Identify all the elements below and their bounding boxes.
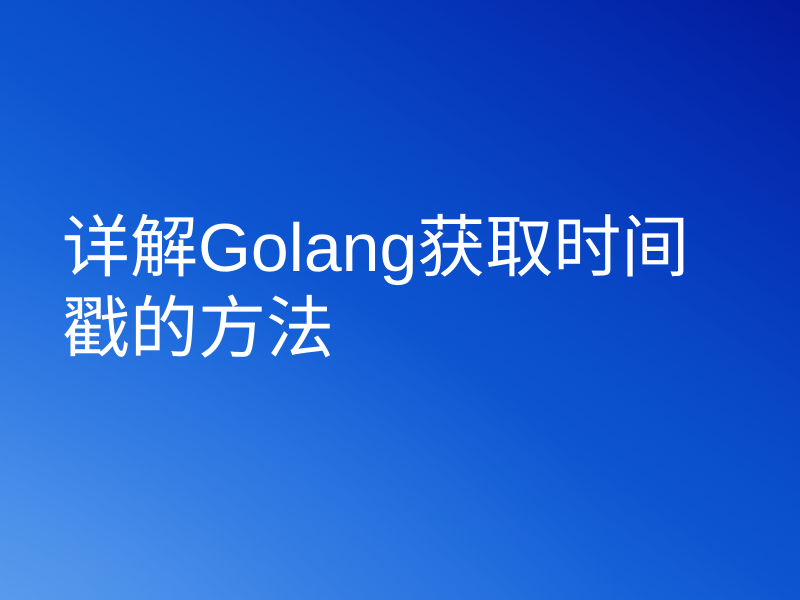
cover-title-block: 详解Golang获取时间戳的方法 xyxy=(62,208,722,370)
article-cover-card: 详解Golang获取时间戳的方法 xyxy=(0,0,800,600)
page-title: 详解Golang获取时间戳的方法 xyxy=(62,208,722,370)
